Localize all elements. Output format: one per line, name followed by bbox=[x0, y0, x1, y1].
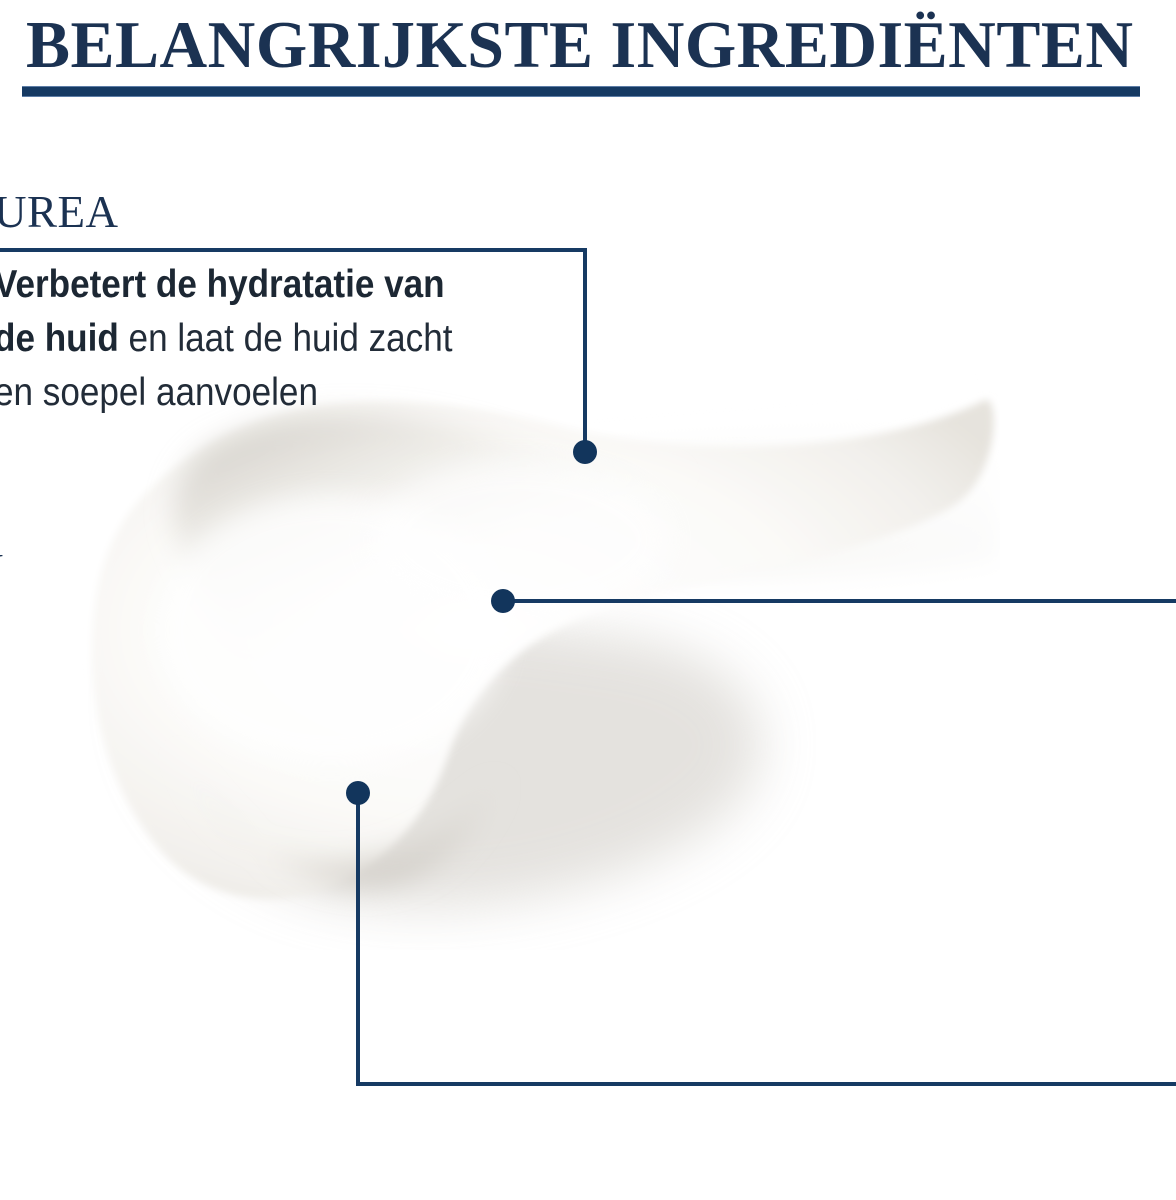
cream-rim-shading bbox=[173, 414, 690, 680]
callout-connector-lines bbox=[0, 0, 1176, 1200]
urea-body-seg: en laat de huid zacht bbox=[119, 317, 453, 360]
cream-body bbox=[92, 400, 994, 899]
urea-body-line-3: en soepel aanvoelen bbox=[0, 366, 523, 420]
nmf-heading-line-1: NATUURLIJKE HYDRATERENDE bbox=[0, 950, 2, 1012]
nmf-heading: NATUURLIJKE HYDRATERENDE FACTOREN (NMF'S… bbox=[0, 950, 2, 1074]
urea-body-line-1: Verbetert de hydratatie van bbox=[0, 258, 523, 312]
urea-body-seg: de huid bbox=[0, 317, 119, 360]
cream-highlight-secondary bbox=[370, 460, 670, 620]
nmf-connector-line bbox=[358, 800, 1176, 1084]
ceramiden-marker-dot bbox=[491, 589, 515, 613]
cream-lower-shading bbox=[160, 710, 500, 887]
urea-marker-dot bbox=[573, 440, 597, 464]
urea-body-seg: Verbetert de hydratatie van bbox=[0, 263, 445, 306]
ceramiden-heading: CERAMIDEN bbox=[0, 544, 4, 596]
urea-body-line-2: de huid en laat de huid zacht bbox=[0, 312, 523, 366]
urea-body-seg: en soepel aanvoelen bbox=[0, 371, 318, 414]
nmf-marker-dot bbox=[346, 781, 370, 805]
page-title: BELANGRIJKSTE INGREDIËNTEN bbox=[26, 8, 1129, 82]
ingredients-infographic: BELANGRIJKSTE INGREDIËNTEN bbox=[0, 0, 1176, 1200]
cream-highlight bbox=[155, 495, 505, 765]
cream-swatch-image bbox=[0, 330, 1000, 950]
urea-body: Verbetert de hydratatie van de huid en l… bbox=[0, 258, 523, 420]
urea-heading: UREA bbox=[0, 186, 594, 238]
title-underline-rule bbox=[22, 86, 1140, 97]
nmf-heading-line-2: FACTOREN (NMF'S) bbox=[0, 1012, 2, 1074]
cream-shadow bbox=[144, 611, 761, 907]
